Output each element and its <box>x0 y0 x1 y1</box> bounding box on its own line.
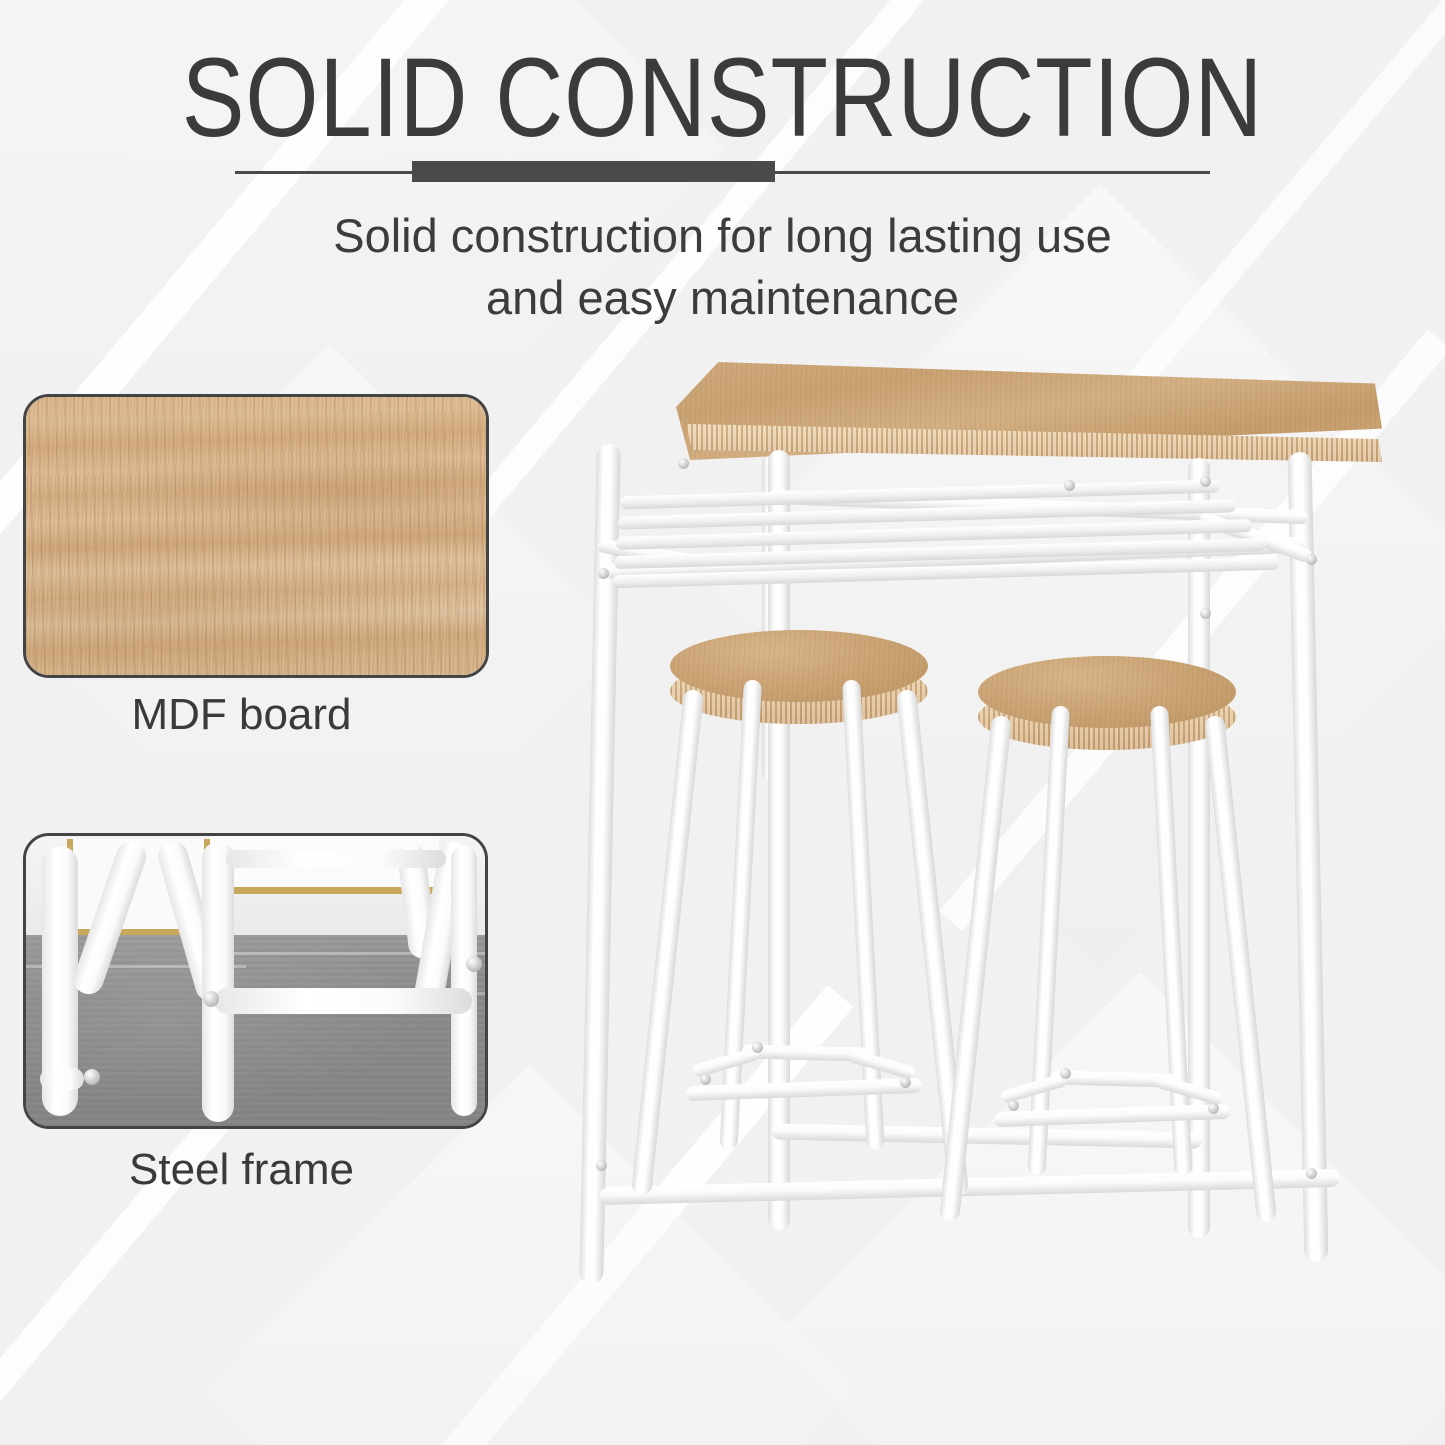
table-leg-front-right <box>1288 452 1329 1262</box>
stool-leg <box>1027 706 1070 1176</box>
table-screw <box>1200 476 1211 487</box>
subtitle-line-2: and easy maintenance <box>0 267 1445 329</box>
stool-leg <box>1204 715 1277 1222</box>
table-screw <box>1306 1168 1317 1179</box>
table-screw <box>1306 554 1317 565</box>
bar-stool-left <box>652 622 962 1262</box>
page-title: SOLID CONSTRUCTION <box>116 42 1330 154</box>
stool-footrest-rail <box>1156 1075 1225 1106</box>
stool-screw <box>752 1042 763 1053</box>
stool-screw <box>700 1074 711 1085</box>
table-screw <box>1200 608 1211 619</box>
steel-frame-photo-card <box>23 833 488 1129</box>
title-divider <box>235 170 1210 174</box>
bar-stool-right <box>960 648 1270 1288</box>
photo-steel-leg <box>451 846 477 1116</box>
wood-grain-texture <box>26 397 486 675</box>
subtitle-line-1: Solid construction for long lasting use <box>0 205 1445 267</box>
photo-steel-foot <box>40 1068 84 1090</box>
stool-screw <box>1060 1068 1071 1079</box>
stool-seat-top <box>978 656 1236 728</box>
stool-seat-top <box>670 630 928 702</box>
stool-screw <box>1208 1103 1219 1114</box>
photo-screw <box>84 1069 100 1085</box>
mdf-board-swatch-card <box>23 394 489 678</box>
steel-frame-label: Steel frame <box>0 1145 483 1195</box>
stool-footrest-rail <box>994 1104 1230 1127</box>
product-feature-banner: SOLID CONSTRUCTION Solid construction fo… <box>0 0 1445 1445</box>
stool-screw <box>900 1077 911 1088</box>
stool-screw <box>1008 1100 1019 1111</box>
table-screw <box>678 458 689 469</box>
table-screw <box>1064 480 1075 491</box>
photo-screw <box>466 956 482 972</box>
table-screw <box>598 568 609 579</box>
steel-frame-photo <box>26 836 485 1126</box>
product-illustration <box>500 340 1430 1370</box>
divider-center-bar <box>412 161 775 182</box>
mdf-board-label: MDF board <box>0 690 483 740</box>
page-subtitle: Solid construction for long lasting use … <box>0 205 1445 329</box>
stool-leg <box>719 680 762 1150</box>
stool-footrest-rail <box>848 1049 917 1080</box>
photo-screw <box>203 991 219 1007</box>
photo-steel-rail <box>214 988 472 1014</box>
stool-leg <box>631 689 704 1196</box>
photo-steel-leg <box>202 842 234 1122</box>
stool-footrest-rail <box>686 1078 922 1101</box>
photo-steel-rail <box>226 850 446 868</box>
table-screw <box>596 1160 607 1171</box>
